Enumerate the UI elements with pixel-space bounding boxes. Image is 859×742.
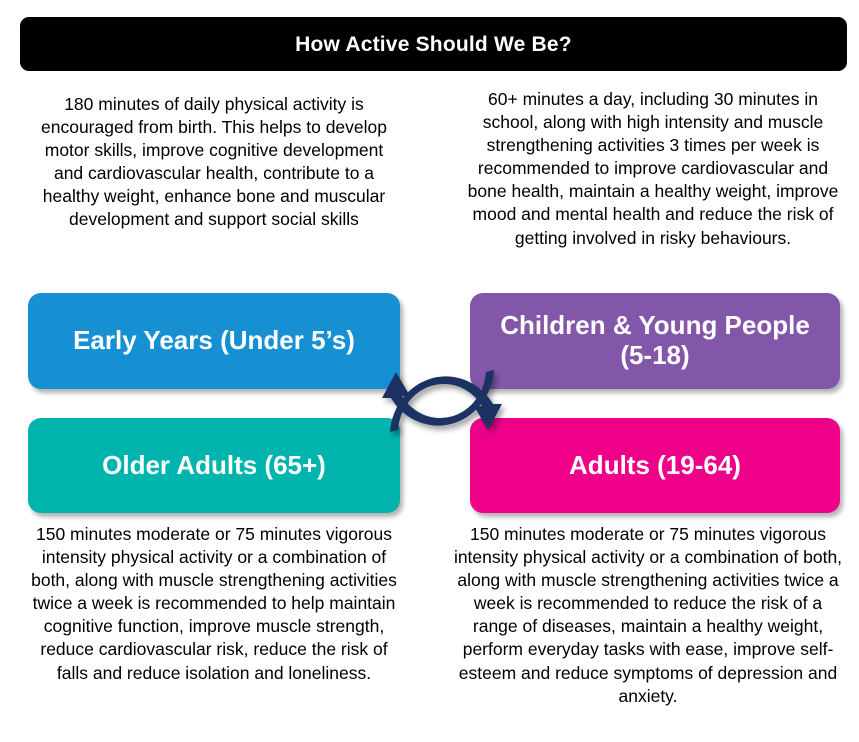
page-title: How Active Should We Be?	[295, 34, 572, 55]
age-group-box-older-adults: Older Adults (65+)	[28, 418, 400, 513]
age-group-label-early-years: Early Years (Under 5’s)	[73, 326, 355, 356]
age-group-label-older-adults: Older Adults (65+)	[102, 451, 326, 481]
age-group-box-adults: Adults (19-64)	[470, 418, 840, 513]
circular-cycle-arrows-icon	[376, 334, 508, 468]
cycle-arrow-paths	[382, 370, 502, 432]
age-group-box-children-young-people: Children & Young People (5-18)	[470, 293, 840, 389]
age-group-box-early-years: Early Years (Under 5’s)	[28, 293, 400, 389]
early-years-description: 180 minutes of daily physical activity i…	[28, 93, 400, 232]
children-young-people-description: 60+ minutes a day, including 30 minutes …	[462, 88, 844, 250]
age-group-label-children-young-people: Children & Young People (5-18)	[484, 311, 826, 370]
older-adults-description: 150 minutes moderate or 75 minutes vigor…	[26, 523, 402, 685]
cycle-arrows-group	[376, 334, 508, 468]
infographic-canvas: How Active Should We Be? 180 minutes of …	[0, 0, 859, 742]
title-banner: How Active Should We Be?	[20, 17, 847, 71]
adults-description: 150 minutes moderate or 75 minutes vigor…	[452, 523, 844, 708]
age-group-label-adults: Adults (19-64)	[569, 451, 741, 481]
